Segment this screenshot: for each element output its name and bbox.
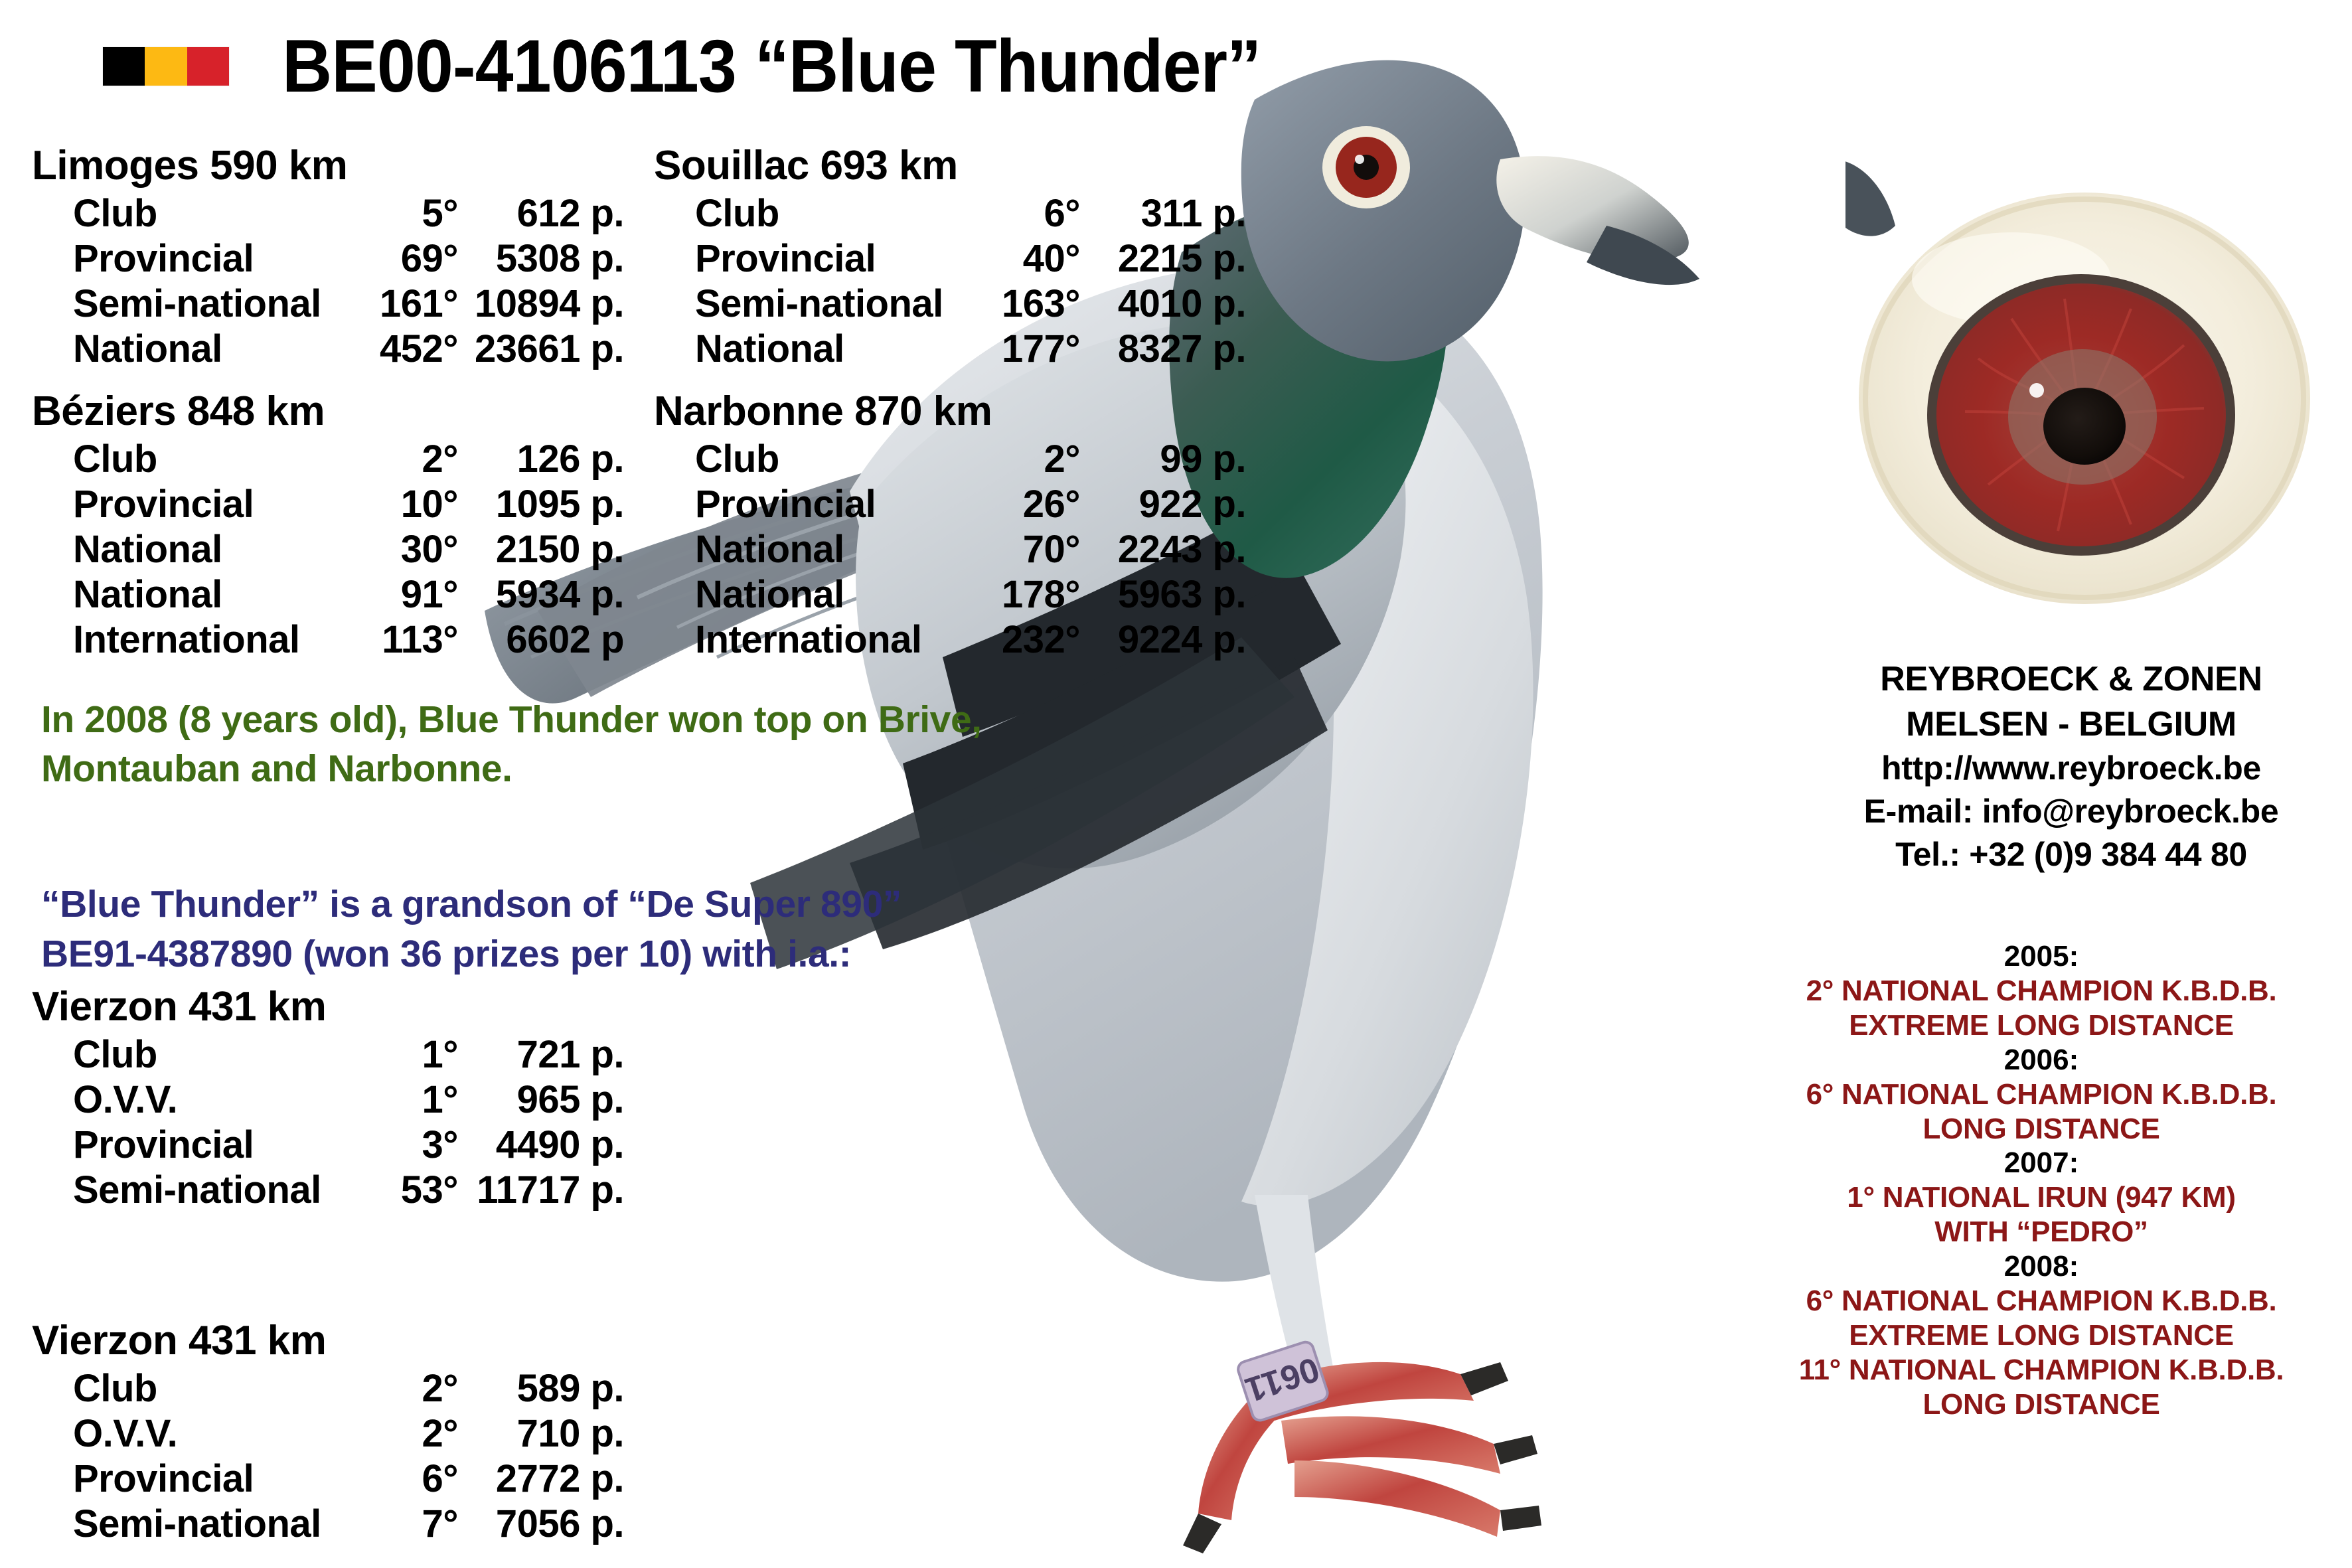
race-row-count: 99 p.: [1080, 437, 1246, 482]
eye-iris: [1936, 283, 2226, 546]
eye-cere: [1859, 193, 2310, 604]
race-row-count: 5934 p.: [458, 572, 624, 617]
race-title-vierzon-2: Vierzon 431 km: [32, 1318, 624, 1364]
race-row-label: Provincial: [73, 482, 358, 527]
table-row: Provincial 26° 922 p.: [695, 482, 1246, 527]
beak-tip-fragment: [1845, 159, 1895, 236]
race-table-narbonne: Club 2° 99 p. Provincial 26° 922 p. Nati…: [695, 437, 1246, 662]
race-row-count: 710 p.: [458, 1411, 624, 1456]
table-row: O.V.V. 1° 965 p.: [73, 1077, 624, 1123]
champion-year-2006: 2006:: [1733, 1043, 2350, 1077]
pigeon-head-eye-pupil: [1354, 155, 1379, 180]
race-table-vierzon-1: Club 1° 721 p. O.V.V. 1° 965 p. Provinci…: [73, 1032, 624, 1212]
race-row-rank: 2°: [980, 437, 1080, 482]
page-title: BE00-4106113 “Blue Thunder”: [282, 29, 1261, 104]
race-row-count: 4490 p.: [458, 1123, 624, 1168]
race-row-rank: 53°: [358, 1168, 458, 1213]
race-row-count: 1095 p.: [458, 482, 624, 527]
pigeon-leg-band: 0611: [1236, 1340, 1330, 1423]
pigeon-eye-photo: [1845, 80, 2350, 611]
table-row: National 452° 23661 p.: [73, 327, 624, 372]
race-row-rank: 6°: [980, 191, 1080, 236]
table-row: Club 2° 589 p.: [73, 1366, 624, 1411]
race-row-rank: 2°: [358, 1411, 458, 1456]
page-header: BE00-4106113 “Blue Thunder”: [0, 20, 1460, 113]
table-row: O.V.V. 2° 710 p.: [73, 1411, 624, 1456]
eye-outer-ring: [1927, 274, 2235, 556]
race-row-label: Provincial: [695, 482, 980, 527]
race-row-count: 589 p.: [458, 1366, 624, 1411]
race-title-souillac: Souillac 693 km: [654, 143, 1246, 189]
race-row-count: 922 p.: [1080, 482, 1246, 527]
race-row-label: Club: [695, 437, 980, 482]
race-row-label: Club: [73, 437, 358, 482]
owner-telephone: Tel.: +32 (0)9 384 44 80: [1792, 833, 2350, 876]
owner-name: REYBROECK & ZONEN: [1792, 657, 2350, 702]
race-row-rank: 7°: [358, 1502, 458, 1547]
champion-line: LONG DISTANCE: [1733, 1112, 2350, 1146]
race-row-rank: 1°: [358, 1077, 458, 1123]
race-row-rank: 161°: [358, 281, 458, 327]
race-row-label: Club: [73, 191, 358, 236]
table-row: Semi-national 161° 10894 p.: [73, 281, 624, 327]
race-row-label: Club: [695, 191, 980, 236]
eye-pupil: [2043, 388, 2126, 465]
table-row: Club 5° 612 p.: [73, 191, 624, 236]
owner-website[interactable]: http://www.reybroeck.be: [1792, 747, 2350, 790]
table-row: National 70° 2243 p.: [695, 527, 1246, 572]
race-row-rank: 5°: [358, 191, 458, 236]
race-row-rank: 30°: [358, 527, 458, 572]
race-row-rank: 177°: [980, 327, 1080, 372]
champion-line: 6° NATIONAL CHAMPION K.B.D.B.: [1733, 1284, 2350, 1318]
race-row-count: 2150 p.: [458, 527, 624, 572]
race-row-label: Semi-national: [695, 281, 980, 327]
table-row: International 232° 9224 p.: [695, 617, 1246, 663]
race-row-count: 8327 p.: [1080, 327, 1246, 372]
race-row-label: Semi-national: [73, 1502, 358, 1547]
pigeon-feet: [1183, 1362, 1541, 1553]
race-block-souillac: Souillac 693 km Club 6° 311 p. Provincia…: [654, 143, 1246, 372]
race-row-count: 2243 p.: [1080, 527, 1246, 572]
svg-text:0611: 0611: [1241, 1350, 1324, 1409]
pigeon-leg: [1255, 1195, 1334, 1374]
championship-list: 2005: 2° NATIONAL CHAMPION K.B.D.B. EXTR…: [1733, 939, 2350, 1422]
champion-line: 1° NATIONAL IRUN (947 KM): [1733, 1180, 2350, 1215]
race-title-beziers: Béziers 848 km: [32, 388, 624, 434]
race-row-label: National: [73, 572, 358, 617]
race-row-label: National: [695, 327, 980, 372]
race-title-narbonne: Narbonne 870 km: [654, 388, 1246, 434]
champion-year-2007: 2007:: [1733, 1146, 2350, 1180]
race-row-label: National: [73, 327, 358, 372]
pedigree-note-grandson: “Blue Thunder” is a grandson of “De Supe…: [41, 880, 902, 979]
race-row-rank: 178°: [980, 572, 1080, 617]
champion-line: LONG DISTANCE: [1733, 1387, 2350, 1422]
race-row-rank: 91°: [358, 572, 458, 617]
race-block-limoges: Limoges 590 km Club 5° 612 p. Provincial…: [32, 143, 624, 372]
race-row-label: International: [695, 617, 980, 663]
race-row-count: 126 p.: [458, 437, 624, 482]
race-row-count: 2215 p.: [1080, 236, 1246, 281]
table-row: Provincial 69° 5308 p.: [73, 236, 624, 281]
race-row-count: 9224 p.: [1080, 617, 1246, 663]
table-row: Semi-national 7° 7056 p.: [73, 1502, 624, 1547]
race-row-rank: 163°: [980, 281, 1080, 327]
race-row-count: 4010 p.: [1080, 281, 1246, 327]
race-row-label: National: [695, 527, 980, 572]
race-row-rank: 113°: [358, 617, 458, 663]
eye-adaptation-ring: [2008, 349, 2157, 485]
race-row-count: 5308 p.: [458, 236, 624, 281]
race-row-rank: 69°: [358, 236, 458, 281]
race-block-narbonne: Narbonne 870 km Club 2° 99 p. Provincial…: [654, 388, 1246, 663]
race-row-label: Semi-national: [73, 1168, 358, 1213]
race-row-rank: 232°: [980, 617, 1080, 663]
champion-year-2005: 2005:: [1733, 939, 2350, 974]
table-row: Club 1° 721 p.: [73, 1032, 624, 1077]
race-row-count: 2772 p.: [458, 1456, 624, 1502]
pigeon-head-eye-ring: [1322, 126, 1410, 208]
champion-line: EXTREME LONG DISTANCE: [1733, 1318, 2350, 1353]
race-row-label: Club: [73, 1032, 358, 1077]
owner-location: MELSEN - BELGIUM: [1792, 702, 2350, 747]
champion-line: 6° NATIONAL CHAMPION K.B.D.B.: [1733, 1077, 2350, 1112]
race-row-rank: 6°: [358, 1456, 458, 1502]
pigeon-head-eye-iris: [1336, 137, 1397, 198]
race-row-label: Provincial: [73, 1123, 358, 1168]
race-row-label: National: [73, 527, 358, 572]
race-row-count: 10894 p.: [458, 281, 624, 327]
table-row: Club 2° 126 p.: [73, 437, 624, 482]
table-row: Semi-national 53° 11717 p.: [73, 1168, 624, 1213]
race-row-count: 7056 p.: [458, 1502, 624, 1547]
race-row-count: 311 p.: [1080, 191, 1246, 236]
race-table-limoges: Club 5° 612 p. Provincial 69° 5308 p. Se…: [73, 191, 624, 371]
race-row-rank: 26°: [980, 482, 1080, 527]
race-row-rank: 70°: [980, 527, 1080, 572]
race-row-count: 11717 p.: [458, 1168, 624, 1213]
race-row-rank: 2°: [358, 1366, 458, 1411]
race-row-label: O.V.V.: [73, 1411, 358, 1456]
table-row: Provincial 10° 1095 p.: [73, 482, 624, 527]
race-row-label: National: [695, 572, 980, 617]
table-row: National 91° 5934 p.: [73, 572, 624, 617]
table-row: Club 6° 311 p.: [695, 191, 1246, 236]
race-row-label: Semi-national: [73, 281, 358, 327]
race-row-label: International: [73, 617, 358, 663]
race-row-label: O.V.V.: [73, 1077, 358, 1123]
table-row: Provincial 3° 4490 p.: [73, 1123, 624, 1168]
race-block-beziers: Béziers 848 km Club 2° 126 p. Provincial…: [32, 388, 624, 663]
race-row-count: 23661 p.: [458, 327, 624, 372]
race-row-rank: 1°: [358, 1032, 458, 1077]
race-block-vierzon-1: Vierzon 431 km Club 1° 721 p. O.V.V. 1° …: [32, 984, 624, 1213]
race-table-beziers: Club 2° 126 p. Provincial 10° 1095 p. Na…: [73, 437, 624, 662]
race-row-label: Club: [73, 1366, 358, 1411]
race-row-count: 612 p.: [458, 191, 624, 236]
race-table-vierzon-2: Club 2° 589 p. O.V.V. 2° 710 p. Provinci…: [73, 1366, 624, 1546]
race-title-vierzon-1: Vierzon 431 km: [32, 984, 624, 1030]
race-row-label: Provincial: [695, 236, 980, 281]
champion-line: EXTREME LONG DISTANCE: [1733, 1008, 2350, 1043]
race-row-rank: 10°: [358, 482, 458, 527]
race-row-count: 6602 p: [458, 617, 624, 663]
table-row: Club 2° 99 p.: [695, 437, 1246, 482]
table-row: International 113° 6602 p: [73, 617, 624, 663]
owner-contact-block: REYBROECK & ZONEN MELSEN - BELGIUM http:…: [1792, 657, 2350, 876]
table-row: Semi-national 163° 4010 p.: [695, 281, 1246, 327]
table-row: Provincial 40° 2215 p.: [695, 236, 1246, 281]
race-block-vierzon-2: Vierzon 431 km Club 2° 589 p. O.V.V. 2° …: [32, 1318, 624, 1547]
pigeon-beak: [1496, 156, 1688, 262]
table-row: National 30° 2150 p.: [73, 527, 624, 572]
race-row-rank: 40°: [980, 236, 1080, 281]
race-row-label: Provincial: [73, 236, 358, 281]
race-row-label: Provincial: [73, 1456, 358, 1502]
champion-line: 11° NATIONAL CHAMPION K.B.D.B.: [1733, 1353, 2350, 1387]
race-table-souillac: Club 6° 311 p. Provincial 40° 2215 p. Se…: [695, 191, 1246, 371]
belgium-flag-icon: [103, 47, 229, 86]
race-row-rank: 2°: [358, 437, 458, 482]
achievement-note-2008: In 2008 (8 years old), Blue Thunder won …: [41, 695, 982, 793]
race-row-rank: 452°: [358, 327, 458, 372]
champion-line: WITH “PEDRO”: [1733, 1215, 2350, 1249]
eye-catchlight: [2029, 383, 2044, 398]
champion-year-2008: 2008:: [1733, 1249, 2350, 1284]
race-row-count: 5963 p.: [1080, 572, 1246, 617]
race-row-count: 965 p.: [458, 1077, 624, 1123]
table-row: National 178° 5963 p.: [695, 572, 1246, 617]
table-row: Provincial 6° 2772 p.: [73, 1456, 624, 1502]
table-row: National 177° 8327 p.: [695, 327, 1246, 372]
pigeon-breast: [1215, 305, 1533, 1206]
champion-line: 2° NATIONAL CHAMPION K.B.D.B.: [1733, 974, 2350, 1008]
race-title-limoges: Limoges 590 km: [32, 143, 624, 189]
race-row-rank: 3°: [358, 1123, 458, 1168]
owner-email[interactable]: E-mail: info@reybroeck.be: [1792, 790, 2350, 833]
race-row-count: 721 p.: [458, 1032, 624, 1077]
